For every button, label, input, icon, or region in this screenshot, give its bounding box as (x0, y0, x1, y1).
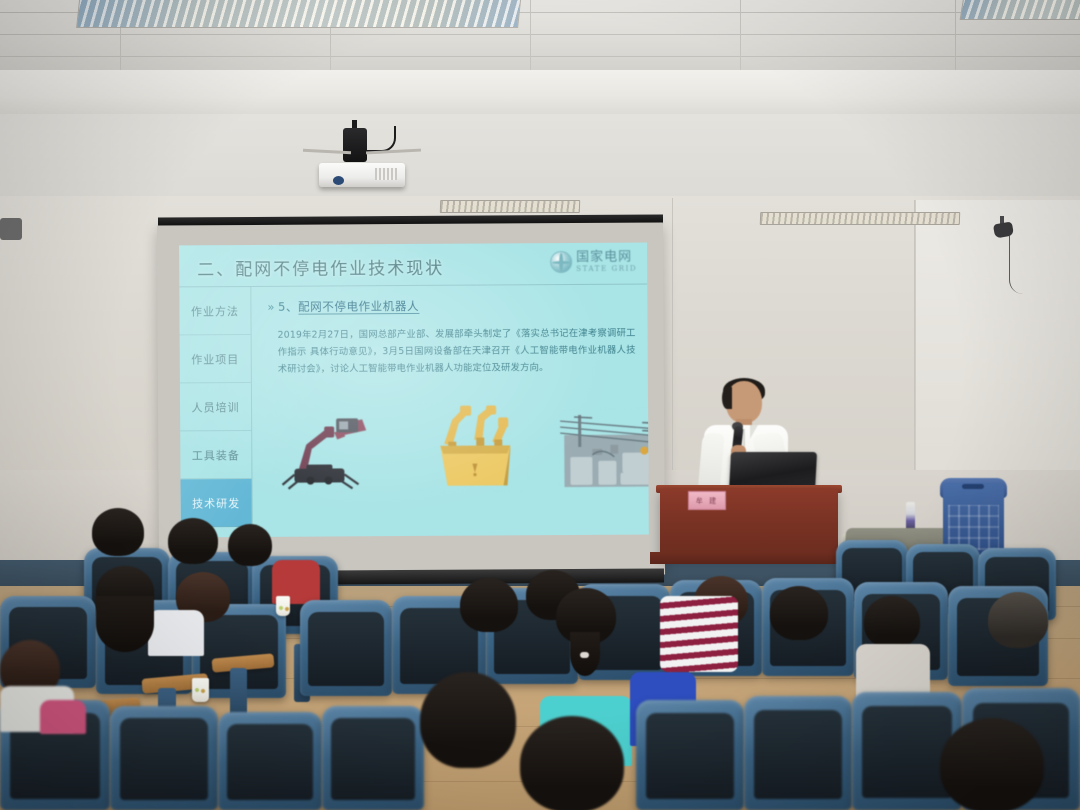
presentation-slide: 二、配网不停电作业技术现状 国家电网 STATE GRID 作业方法 作业项目 … (179, 243, 649, 538)
projection-screen: 二、配网不停电作业技术现状 国家电网 STATE GRID 作业方法 作业项目 … (157, 222, 665, 577)
sidebar-item-work-method[interactable]: 作业方法 (179, 287, 250, 335)
sidebar-item-personnel-training[interactable]: 人员培训 (180, 383, 251, 431)
suspended-ceiling (0, 0, 1080, 72)
logo-text-cn: 国家电网 (576, 251, 637, 264)
audience-torso (40, 700, 86, 734)
camera-cord (1009, 236, 1023, 294)
ceiling-soffit (0, 70, 1080, 116)
audience-seat (744, 696, 852, 810)
projector-cable (366, 126, 396, 152)
globe-icon (550, 251, 572, 273)
logo-text-en: STATE GRID (576, 266, 637, 273)
audience-head (228, 524, 272, 566)
slide-title: 二、配网不停电作业技术现状 (197, 254, 444, 281)
audience-seat (110, 706, 218, 810)
sidebar-item-tools-equipment[interactable]: 工具装备 (180, 431, 251, 479)
bullet-link-text[interactable]: 配网不停电作业机器人 (298, 299, 419, 315)
slide-paragraph: 2019年2月27日，国网总部产业部、发展部牵头制定了《落实总书记在津考察调研工… (278, 325, 636, 378)
projector-lens-icon (333, 176, 344, 185)
slide-image-row (266, 403, 639, 495)
audience-head (988, 592, 1048, 648)
ceiling-light-fixture (76, 0, 522, 28)
robotic-arm-vehicle-image (276, 408, 389, 493)
ceiling-air-vent (440, 200, 580, 213)
paper-cup[interactable] (276, 596, 290, 616)
podium-base (650, 552, 846, 564)
audience-head (92, 508, 144, 556)
utility-pole-live-work-image (558, 408, 649, 489)
slide-header: 二、配网不停电作业技术现状 国家电网 STATE GRID (179, 243, 647, 288)
podium (660, 489, 838, 558)
wall-panel-right (915, 200, 1080, 500)
audience-torso-striped (660, 596, 738, 672)
audience-seat (636, 700, 744, 810)
audience-head (168, 518, 218, 564)
yellow-bucket-robot-arm-image (418, 403, 529, 492)
slide-sidebar-nav: 作业方法 作业项目 人员培训 工具装备 技术研发 (179, 287, 253, 537)
state-grid-logo: 国家电网 STATE GRID (550, 251, 637, 274)
audience-head (460, 578, 518, 632)
podium-nameplate: 牟 建 (688, 491, 726, 510)
ceiling-projector (319, 163, 405, 187)
projector-vent (375, 168, 397, 180)
wall-speaker (0, 218, 22, 240)
conference-room-photo: 二、配网不停电作业技术现状 国家电网 STATE GRID 作业方法 作业项目 … (0, 0, 1080, 810)
audience-seat (218, 712, 322, 810)
chevron-right-icon: » (267, 300, 275, 314)
audience-head (864, 596, 920, 648)
audience-torso (148, 610, 204, 656)
audience-hair (96, 596, 154, 652)
ceiling-air-vent (760, 212, 960, 225)
audience-head (420, 672, 516, 768)
audience-seat (300, 600, 392, 696)
projector-mount (343, 128, 367, 162)
paper-cup[interactable] (192, 678, 209, 702)
audience-head (940, 718, 1044, 810)
audience-head (520, 716, 624, 810)
rolling-bin-handle (962, 484, 984, 489)
bullet-number: 5、 (278, 300, 298, 314)
presenter-hair-side (722, 387, 732, 409)
sidebar-item-work-project[interactable]: 作业项目 (180, 335, 251, 383)
ceiling-light-fixture (960, 0, 1080, 20)
audience-seat (322, 706, 424, 810)
slide-body: »5、配网不停电作业机器人 2019年2月27日，国网总部产业部、发展部牵头制定… (251, 285, 649, 537)
audience-head (770, 586, 828, 640)
slide-bullet-heading: »5、配网不停电作业机器人 (267, 298, 419, 315)
hair-tie (580, 652, 589, 658)
